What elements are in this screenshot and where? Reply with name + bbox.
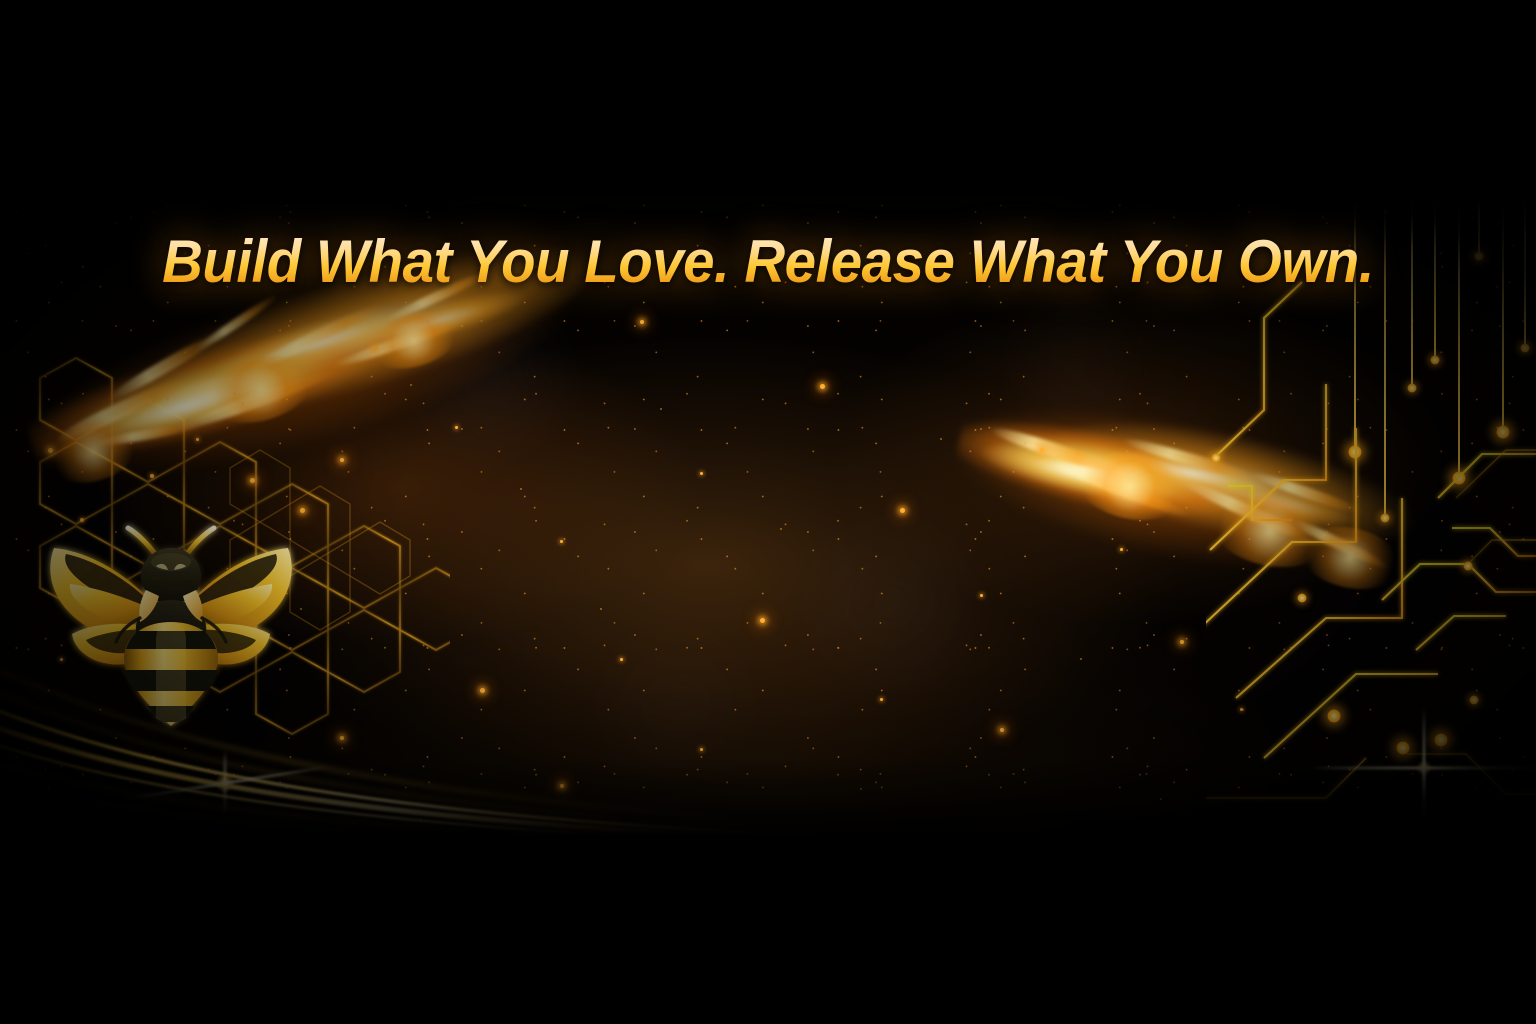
bee-logo (16, 518, 326, 738)
page-title: Build What You Love. Release What You Ow… (46, 232, 1490, 292)
hero-banner: Build What You Love. Release What You Ow… (0, 0, 1536, 1024)
